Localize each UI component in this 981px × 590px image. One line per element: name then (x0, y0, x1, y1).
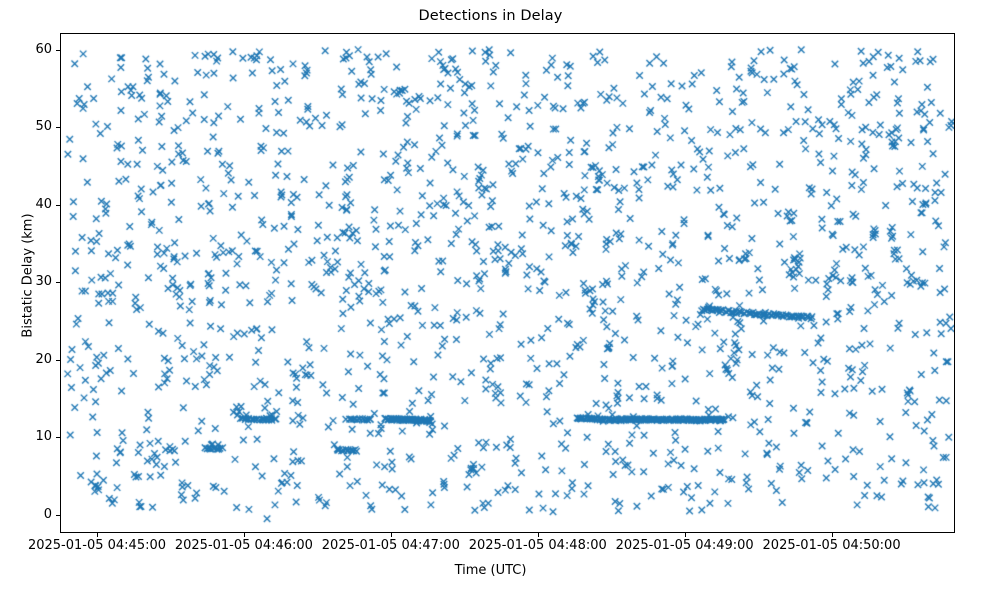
x-tick-label: 2025-01-05 04:50:00 (763, 539, 901, 553)
chart-figure: Detections in Delay 0102030405060 2025-0… (0, 0, 981, 590)
x-tick-mark (244, 533, 245, 537)
x-tick-mark (538, 533, 539, 537)
x-tick-label: 2025-01-05 04:48:00 (469, 539, 607, 553)
x-tick-label: 2025-01-05 04:49:00 (616, 539, 754, 553)
x-tick-label: 2025-01-05 04:46:00 (175, 539, 313, 553)
x-tick-mark (97, 533, 98, 537)
x-tick-mark (391, 533, 392, 537)
x-tick-mark (685, 533, 686, 537)
x-axis-ticks: 2025-01-05 04:45:002025-01-05 04:46:0020… (0, 0, 981, 590)
x-tick-label: 2025-01-05 04:47:00 (322, 539, 460, 553)
y-axis-label: Bistatic Delay (km) (21, 156, 36, 396)
x-tick-mark (832, 533, 833, 537)
x-tick-label: 2025-01-05 04:45:00 (28, 539, 166, 553)
x-axis-label: Time (UTC) (0, 563, 981, 578)
